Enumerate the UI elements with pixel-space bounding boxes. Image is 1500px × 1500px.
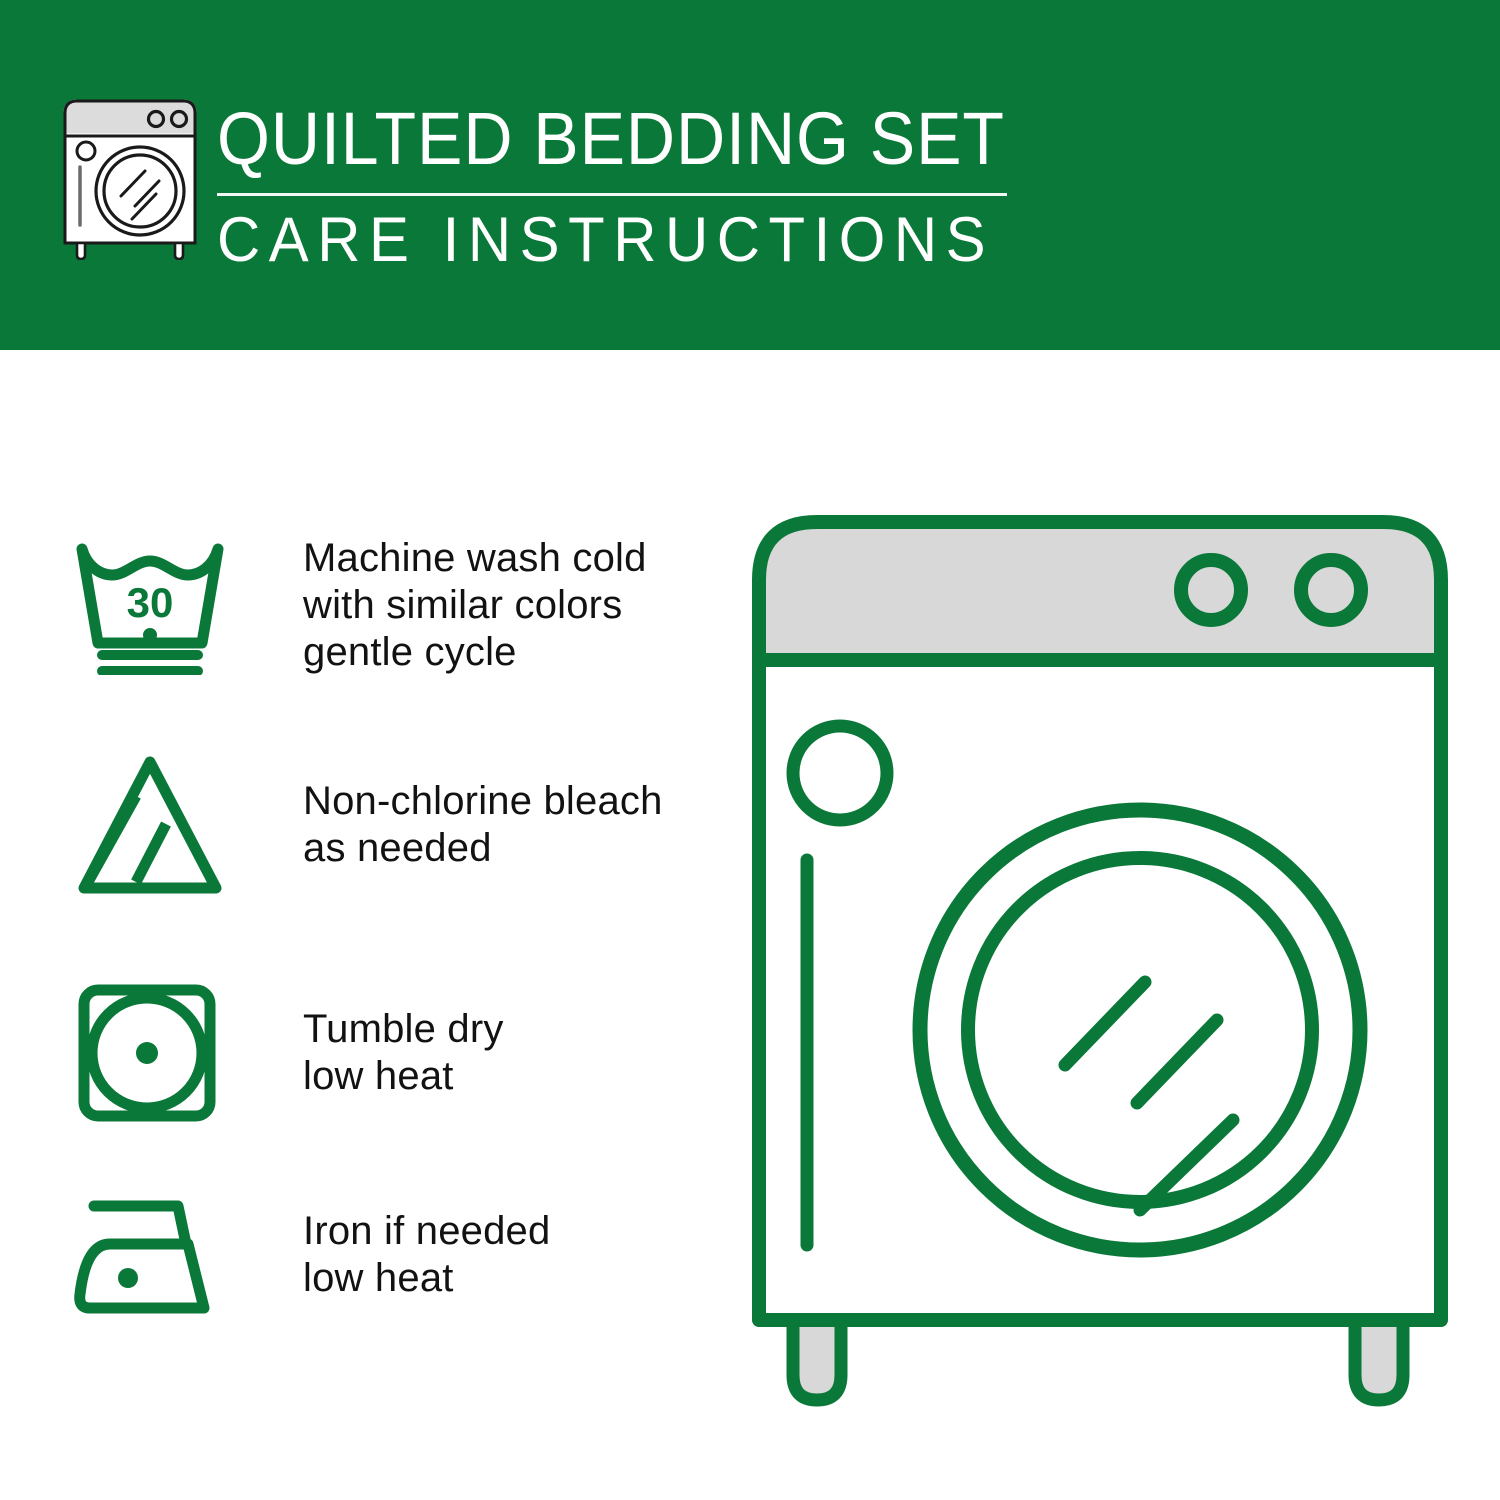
svg-text:30: 30 bbox=[127, 579, 174, 626]
care-instructions-page: QUILTED BEDDING SET CARE INSTRUCTIONS 30 bbox=[0, 0, 1500, 1500]
care-item-label: Tumble dry low heat bbox=[245, 1006, 504, 1100]
care-item-tumble-dry: Tumble dry low heat bbox=[70, 945, 710, 1160]
care-line-1: Iron if needed bbox=[303, 1208, 550, 1255]
care-line-3: gentle cycle bbox=[303, 629, 647, 676]
care-line-2: low heat bbox=[303, 1053, 504, 1100]
title-divider bbox=[217, 193, 1007, 196]
care-item-iron: Iron if needed low heat bbox=[70, 1160, 710, 1350]
care-line-2: as needed bbox=[303, 825, 663, 872]
page-title: QUILTED BEDDING SET bbox=[217, 99, 1005, 179]
header-content: QUILTED BEDDING SET CARE INSTRUCTIONS bbox=[55, 95, 1073, 274]
care-instruction-list: 30 Machine wash cold with similar colors… bbox=[70, 505, 710, 1350]
care-item-bleach: Non-chlorine bleach as needed bbox=[70, 705, 710, 945]
care-item-label: Non-chlorine bleach as needed bbox=[245, 778, 663, 872]
care-line-2: with similar colors bbox=[303, 582, 647, 629]
header-banner: QUILTED BEDDING SET CARE INSTRUCTIONS bbox=[0, 0, 1500, 350]
front-load-washing-machine-illustration bbox=[745, 500, 1455, 1430]
page-subtitle: CARE INSTRUCTIONS bbox=[217, 206, 1031, 274]
care-item-label: Iron if needed low heat bbox=[245, 1208, 550, 1302]
bleach-triangle-icon bbox=[70, 750, 245, 900]
care-line-1: Non-chlorine bleach bbox=[303, 778, 663, 825]
header-text-block: QUILTED BEDDING SET CARE INSTRUCTIONS bbox=[217, 95, 1073, 274]
iron-icon bbox=[70, 1190, 245, 1320]
care-line-1: Tumble dry bbox=[303, 1006, 504, 1053]
wash-tub-30-icon: 30 bbox=[70, 535, 245, 675]
care-item-machine-wash: 30 Machine wash cold with similar colors… bbox=[70, 505, 710, 705]
washing-machine-icon bbox=[55, 95, 205, 260]
tumble-dry-icon bbox=[70, 978, 245, 1128]
care-item-label: Machine wash cold with similar colors ge… bbox=[245, 535, 647, 676]
care-line-1: Machine wash cold bbox=[303, 535, 647, 582]
care-line-2: low heat bbox=[303, 1255, 550, 1302]
